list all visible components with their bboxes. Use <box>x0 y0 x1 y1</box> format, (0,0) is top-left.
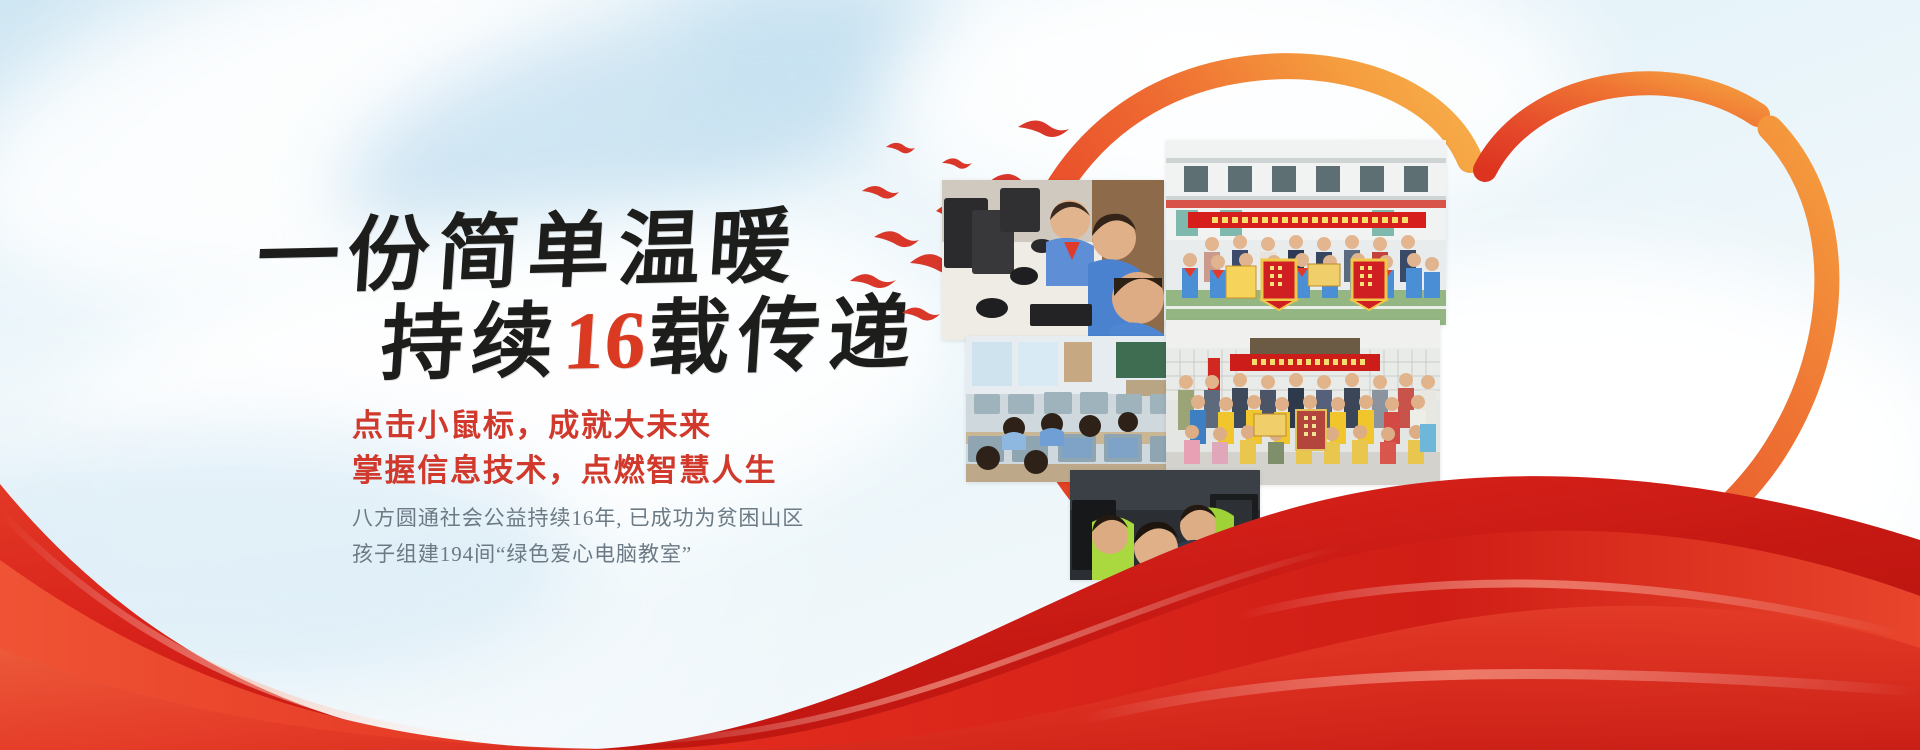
promo-banner: 一份简单温暖 持续16载传递 点击小鼠标，成就大未来 掌握信息技术，点燃智慧人生… <box>0 0 1920 750</box>
headline-years-number: 16 <box>559 293 651 389</box>
photo-donation-ceremony-blue <box>1166 140 1446 325</box>
photo-students-at-computers <box>942 180 1164 340</box>
red-silk-ribbon <box>0 420 1920 750</box>
headline-prefix: 持续 <box>378 296 565 391</box>
